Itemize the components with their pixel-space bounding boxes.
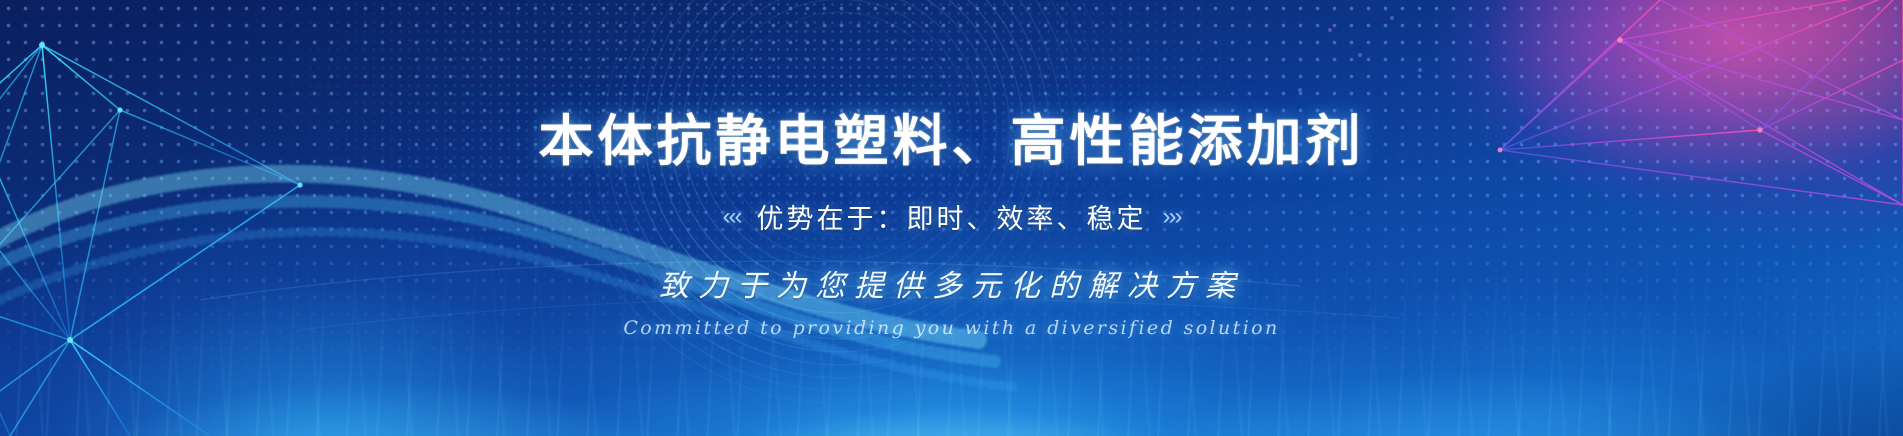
chevron-right-icon: ››› bbox=[1163, 203, 1181, 231]
banner-content: 本体抗静电塑料、高性能添加剂 ‹‹‹ 优势在于：即时、效率、稳定 ››› 致力于… bbox=[0, 0, 1903, 436]
banner-title: 本体抗静电塑料、高性能添加剂 bbox=[538, 112, 1364, 171]
banner-tagline-cn: 致力于为您提供多元化的解决方案 bbox=[659, 261, 1244, 305]
chevron-left-icon: ‹‹‹ bbox=[723, 203, 741, 231]
hero-banner: 本体抗静电塑料、高性能添加剂 ‹‹‹ 优势在于：即时、效率、稳定 ››› 致力于… bbox=[0, 0, 1903, 436]
banner-subtitle: 优势在于：即时、效率、稳定 bbox=[757, 197, 1147, 236]
banner-subtitle-row: ‹‹‹ 优势在于：即时、效率、稳定 ››› bbox=[723, 197, 1181, 236]
banner-tagline-en: Committed to providing you with a divers… bbox=[623, 317, 1279, 339]
